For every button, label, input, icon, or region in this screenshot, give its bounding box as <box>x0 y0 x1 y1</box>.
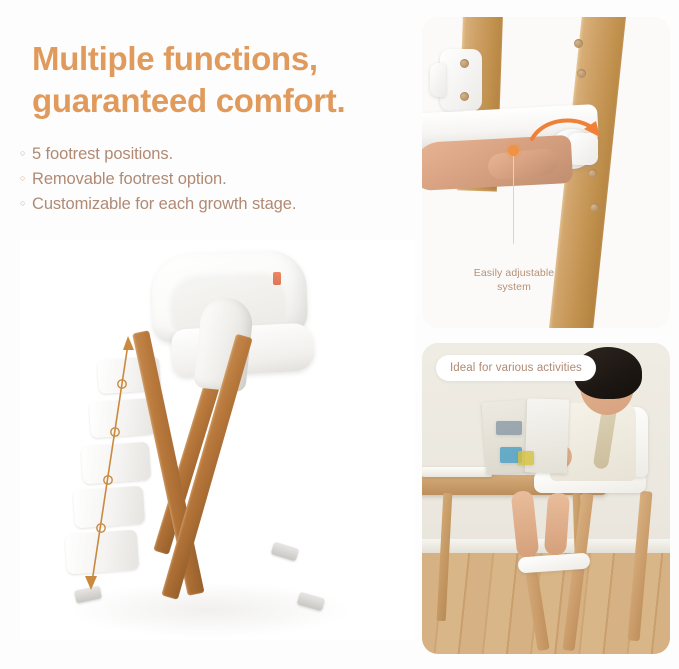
screw-icon <box>590 203 599 212</box>
headline-line-2: guaranteed comfort. <box>32 80 427 122</box>
book-illustration <box>496 421 522 435</box>
bullet-marker-icon: ○ <box>20 149 32 158</box>
list-item: ○ Customizable for each growth stage. <box>20 192 365 216</box>
bullet-marker-icon: ○ <box>20 199 32 208</box>
foot-cap <box>297 592 326 612</box>
desk-paper <box>422 467 492 477</box>
list-item: ○ 5 footrest positions. <box>20 142 365 166</box>
screw-icon <box>460 92 469 101</box>
mounting-bracket <box>440 49 482 111</box>
callout-caption-line-1: Easily adjustable <box>474 267 555 279</box>
lifestyle-caption-pill: Ideal for various activities <box>436 355 596 381</box>
foot-cap <box>271 541 300 561</box>
screw-icon <box>574 39 583 48</box>
screw-icon <box>460 59 469 68</box>
list-item-label: Removable footrest option. <box>32 167 365 191</box>
callout-leader-line <box>513 156 514 244</box>
lifestyle-panel: Ideal for various activities <box>422 343 670 654</box>
page-title: Multiple functions, guaranteed comfort. <box>32 38 427 122</box>
height-range-arrow-icon <box>82 332 142 592</box>
brand-tag <box>273 272 281 285</box>
list-item-label: 5 footrest positions. <box>32 142 365 166</box>
book-illustration <box>518 451 534 465</box>
screw-icon <box>577 69 586 78</box>
callout-caption: Easily adjustable system <box>448 267 580 295</box>
bracket-tab <box>430 63 446 97</box>
bullet-marker-icon: ○ <box>20 174 32 183</box>
chair-side-view-photo <box>20 240 415 640</box>
headline-line-1: Multiple functions, <box>32 38 427 80</box>
lifestyle-caption-label: Ideal for various activities <box>450 362 582 374</box>
callout-caption-line-2: system <box>497 281 531 293</box>
list-item-label: Customizable for each growth stage. <box>32 192 365 216</box>
screw-icon <box>588 169 597 178</box>
product-feature-graphic: Multiple functions, guaranteed comfort. … <box>0 0 679 669</box>
list-item: ○ Removable footrest option. <box>20 167 365 191</box>
rotate-arrow-icon <box>526 109 610 149</box>
feature-list: ○ 5 footrest positions. ○ Removable foot… <box>20 142 365 217</box>
adjustable-system-panel: Easily adjustable system <box>422 17 670 328</box>
child-leg <box>544 492 570 555</box>
callout-dot-icon <box>508 145 519 156</box>
